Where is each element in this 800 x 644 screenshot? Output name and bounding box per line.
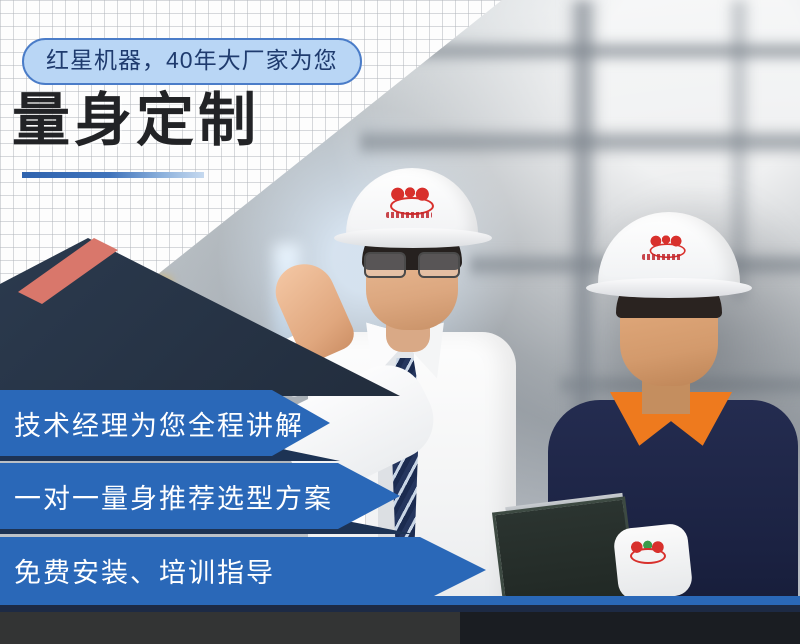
promo-banner: 红星机器，40年大厂家为您 量身定制 技术经理为您全程讲解 一对一量身推荐选型方… (0, 0, 800, 644)
footer-navy-bar (0, 605, 800, 612)
hard-hat-brim (334, 228, 492, 248)
eyeglasses (362, 252, 462, 274)
hard-hat-logo-icon (388, 184, 432, 214)
glove-logo-icon (630, 538, 664, 562)
feature-banner-3: 免费安装、培训指导 (0, 537, 486, 603)
feature-banner-1-label: 技术经理为您全程讲解 (14, 404, 304, 443)
tagline-badge: 红星机器，40年大厂家为您 (22, 38, 362, 85)
feature-banner-2-label: 一对一量身推荐选型方案 (14, 477, 333, 516)
hard-hat-brim (586, 278, 752, 298)
hard-hat-logo-text (642, 254, 682, 260)
page-title: 量身定制 (12, 92, 260, 150)
right-worker-figure (546, 186, 800, 644)
footer-blue-bar (0, 596, 800, 605)
hard-hat-logo-text (386, 212, 432, 218)
feature-banner-1: 技术经理为您全程讲解 (0, 390, 330, 456)
feature-banner-3-label: 免费安装、培训指导 (14, 551, 275, 590)
footer-dark-bar-right (460, 612, 800, 644)
title-underline (22, 172, 204, 178)
feature-banner-2: 一对一量身推荐选型方案 (0, 463, 400, 529)
